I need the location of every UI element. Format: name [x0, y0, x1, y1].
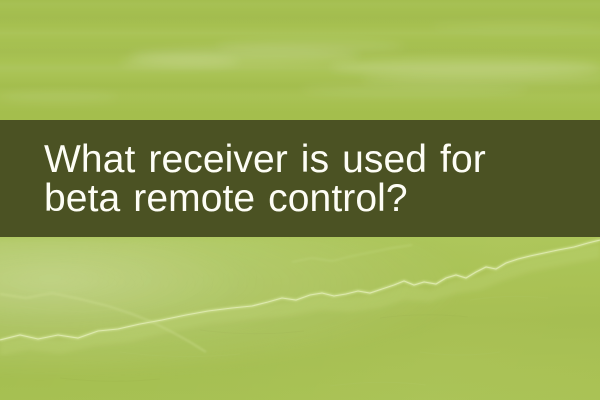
caption-headline: What receiver is used for beta remote co…: [0, 140, 592, 218]
screenshot-canvas: What receiver is used for beta remote co…: [0, 0, 600, 400]
caption-band: What receiver is used for beta remote co…: [0, 120, 600, 237]
